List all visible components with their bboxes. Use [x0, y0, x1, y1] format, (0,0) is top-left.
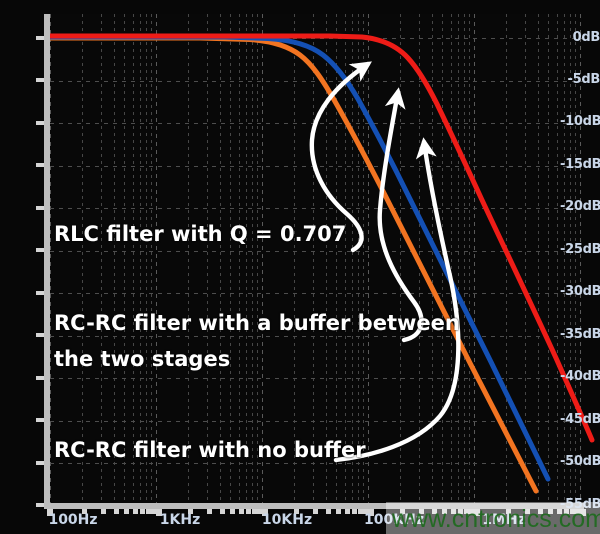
x-axis-label-1khz: 1KHz	[160, 512, 200, 528]
y-axis-label-7: -35dB	[560, 327, 600, 342]
x-axis-label-100hz: 100Hz	[48, 512, 97, 528]
x-axis-tick-minor	[345, 509, 350, 514]
x-axis-label-10khz: 10KHz	[262, 512, 312, 528]
y-axis-tick	[36, 461, 44, 465]
y-axis-tick	[36, 248, 44, 252]
watermark-text: www.cntronics.com	[392, 505, 600, 534]
y-axis-spine	[44, 14, 50, 509]
y-axis-tick	[36, 376, 44, 380]
y-axis-label-4: -20dB	[560, 199, 600, 214]
x-axis-tick-minor	[352, 509, 357, 514]
y-axis-label-0: 0dB	[560, 30, 600, 45]
x-axis-tick-minor	[133, 509, 138, 514]
x-axis-tick-minor	[101, 509, 106, 514]
y-axis-tick	[36, 291, 44, 295]
x-axis-tick-minor	[114, 509, 119, 514]
x-axis-tick-minor	[336, 509, 341, 514]
y-axis-tick	[36, 333, 44, 337]
x-axis-tick-minor	[326, 509, 331, 514]
curve-rc-rc-no-buffer	[50, 38, 536, 491]
y-axis-label-6: -30dB	[560, 284, 600, 299]
x-axis-tick-minor	[140, 509, 145, 514]
x-axis-tick-minor	[230, 509, 235, 514]
x-axis-tick-minor	[207, 509, 212, 514]
annotation-no-buffer: RC-RC filter with no buffer	[54, 438, 366, 462]
y-axis-tick	[36, 36, 44, 40]
y-axis-label-9: -45dB	[560, 412, 600, 427]
y-axis-label-8: -40dB	[560, 369, 600, 384]
y-axis-tick	[36, 78, 44, 82]
y-axis-label-5: -25dB	[560, 242, 600, 257]
x-axis-tick-minor	[246, 509, 251, 514]
x-axis-tick-minor	[313, 509, 318, 514]
y-axis-tick	[36, 206, 44, 210]
y-axis-label-2: -10dB	[560, 114, 600, 129]
annotation-buffered-line2: the two stages	[54, 347, 230, 371]
y-axis-tick	[36, 121, 44, 125]
annotation-buffered-line1: RC-RC filter with a buffer between	[54, 311, 460, 335]
y-axis-label-3: -15dB	[560, 157, 600, 172]
y-axis-tick	[36, 418, 44, 422]
bode-plot-figure: RLC filter with Q = 0.707 RC-RC filter w…	[0, 0, 600, 534]
x-axis-tick-minor	[220, 509, 225, 514]
y-axis-tick	[36, 503, 44, 507]
annotation-rlc: RLC filter with Q = 0.707	[54, 222, 346, 246]
x-axis-tick-minor	[239, 509, 244, 514]
y-axis-label-1: -5dB	[560, 72, 600, 87]
x-axis-tick-minor	[124, 509, 129, 514]
y-axis-label-10: -50dB	[560, 454, 600, 469]
curve-rc-rc-with-buffer	[50, 37, 548, 479]
y-axis-tick	[36, 163, 44, 167]
